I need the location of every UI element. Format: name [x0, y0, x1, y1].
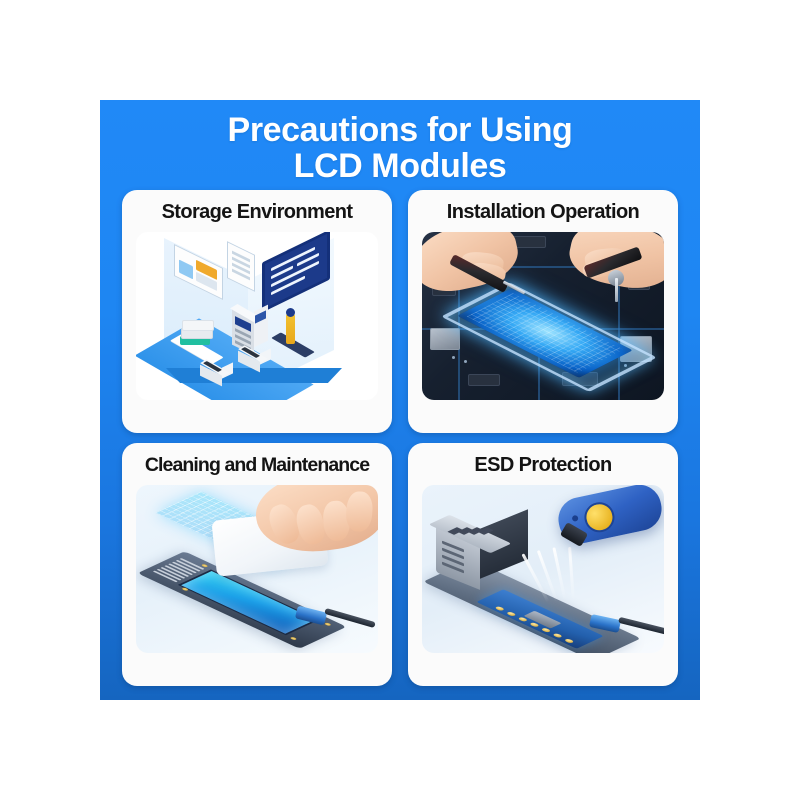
page-title: Precautions for Using LCD Modules — [100, 112, 700, 184]
tower-server — [232, 306, 266, 350]
room-floor-edge — [166, 368, 342, 383]
infographic-panel: Precautions for Using LCD Modules Storag… — [100, 100, 700, 700]
equipment-unit-2 — [238, 348, 272, 370]
card-illustration-cleaning-and-maintenance — [122, 485, 392, 670]
card-illustration-storage-environment — [122, 232, 392, 417]
stacked-boxes — [180, 320, 214, 348]
card-title-esd-protection: ESD Protection — [414, 454, 672, 477]
esd-ionizer-station — [436, 519, 528, 581]
blower-indicator-dot — [572, 515, 579, 522]
card-title-cleaning-and-maintenance: Cleaning and Maintenance — [128, 454, 386, 477]
stand-cap — [286, 308, 295, 317]
driver-tip — [615, 278, 618, 302]
card-title-storage-environment: Storage Environment — [128, 201, 386, 224]
card-illustration-esd-protection — [408, 485, 678, 670]
page-title-line-1: Precautions for Using — [228, 111, 573, 149]
card-esd-protection[interactable]: ESD Protection — [408, 443, 678, 686]
stand-post — [286, 314, 295, 344]
card-cleaning-and-maintenance[interactable]: Cleaning and Maintenance — [122, 443, 392, 686]
page-title-line-2: LCD Modules — [100, 148, 700, 184]
equipment-unit-1 — [200, 362, 234, 384]
card-storage-environment[interactable]: Storage Environment — [122, 190, 392, 433]
card-installation-operation[interactable]: Installation Operation — [408, 190, 678, 433]
esd-chip — [523, 611, 561, 629]
blower-button[interactable] — [582, 499, 618, 535]
card-title-installation-operation: Installation Operation — [414, 201, 672, 224]
card-illustration-installation-operation — [408, 232, 678, 417]
